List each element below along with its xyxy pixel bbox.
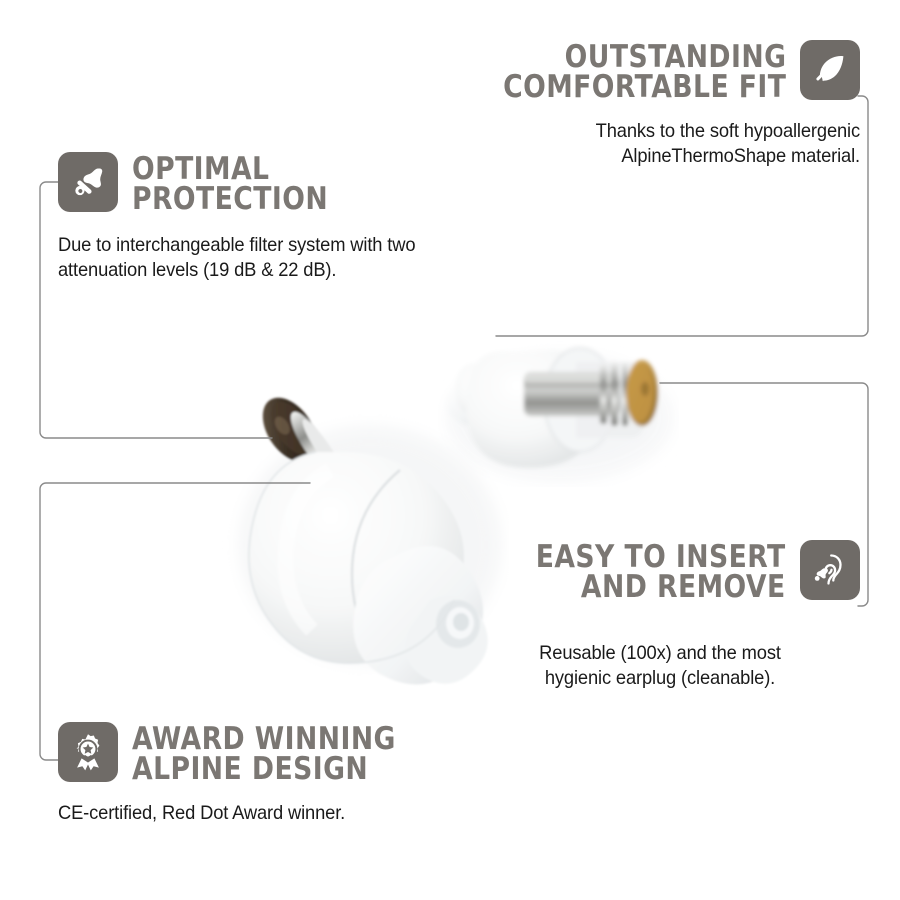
feature-header: OUTSTANDING COMFORTABLE FIT	[440, 40, 860, 103]
feature-title: OUTSTANDING COMFORTABLE FIT	[503, 40, 786, 103]
feature-title: AWARD WINNING ALPINE DESIGN	[132, 722, 396, 785]
feature-body: Thanks to the soft hypoallergenic Alpine…	[465, 119, 860, 170]
feature-title: OPTIMAL PROTECTION	[132, 152, 328, 215]
feature-optimal-protection: OPTIMAL PROTECTION Due to interchangeabl…	[58, 152, 478, 284]
award-rosette-icon	[58, 722, 118, 782]
earplug-icon	[58, 152, 118, 212]
feature-header: AWARD WINNING ALPINE DESIGN	[58, 722, 478, 785]
ear-with-earplug-icon	[800, 540, 860, 600]
feature-outstanding-comfortable-fit: OUTSTANDING COMFORTABLE FIT Thanks to th…	[440, 40, 860, 170]
feature-header: EASY TO INSERT AND REMOVE	[460, 540, 860, 603]
feature-header: OPTIMAL PROTECTION	[58, 152, 478, 215]
feature-easy-to-insert-and-remove: EASY TO INSERT AND REMOVE Reusable (100x…	[460, 540, 860, 692]
feature-title: EASY TO INSERT AND REMOVE	[536, 540, 786, 603]
feature-body: Reusable (100x) and the most hygienic ea…	[472, 641, 848, 692]
feature-body: CE-certified, Red Dot Award winner.	[58, 801, 453, 827]
feather-icon	[800, 40, 860, 100]
feature-award-winning-alpine-design: AWARD WINNING ALPINE DESIGN CE-certified…	[58, 722, 478, 826]
feature-body: Due to interchangeable filter system wit…	[58, 233, 453, 284]
infographic-canvas: OPTIMAL PROTECTION Due to interchangeabl…	[0, 0, 900, 900]
